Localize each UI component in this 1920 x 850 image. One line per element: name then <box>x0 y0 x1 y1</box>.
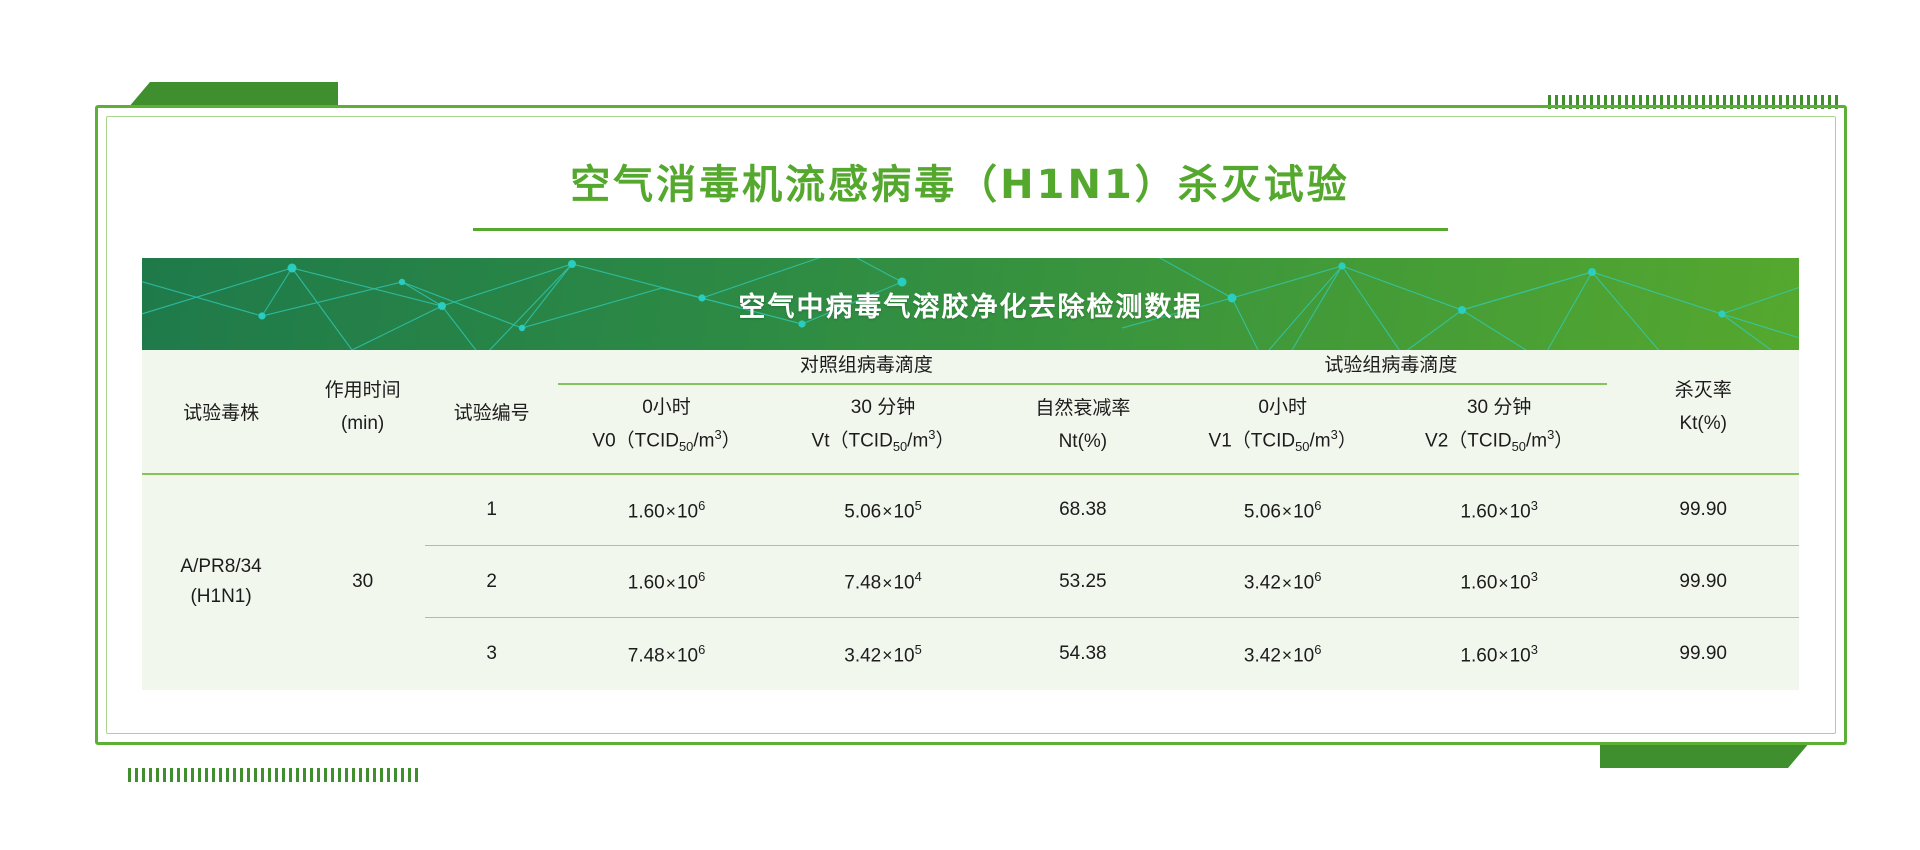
header-test-no: 试验编号 <box>425 350 558 474</box>
header-v1-unit: V1（TCID50/m3） <box>1178 424 1386 459</box>
header-kill-rate-line1: 杀灭率 <box>1611 374 1795 407</box>
cell-v2-exponent: 3 <box>1531 498 1538 513</box>
cell-test-no: 3 <box>425 618 558 690</box>
times-symbol: × <box>881 501 893 521</box>
header-group-control: 对照组病毒滴度 <box>558 350 1174 384</box>
subscript-50: 50 <box>679 439 693 454</box>
header-vt-unit: Vt（TCID50/m3） <box>779 424 987 459</box>
header-vt: 30 分钟 Vt（TCID50/m3） <box>775 384 991 474</box>
cell-v0: 7.48×106 <box>558 618 774 690</box>
cell-vt: 7.48×104 <box>775 546 991 618</box>
header-v0-symbol: V0 <box>592 431 615 452</box>
cell-v0-exponent: 6 <box>698 498 705 513</box>
cell-vt-mantissa: 5.06 <box>844 501 881 522</box>
section-banner: 空气中病毒气溶胶净化去除检测数据 <box>142 258 1799 350</box>
banner-title: 空气中病毒气溶胶净化去除检测数据 <box>142 258 1799 350</box>
cell-v1-exponent: 6 <box>1314 642 1321 657</box>
superscript-3: 3 <box>928 427 935 442</box>
times-symbol: × <box>881 573 893 593</box>
cell-v1-exponent: 6 <box>1314 569 1321 584</box>
cell-v0: 1.60×106 <box>558 546 774 618</box>
times-symbol: × <box>665 645 677 665</box>
cell-v2-exponent: 3 <box>1531 642 1538 657</box>
superscript-3: 3 <box>714 427 721 442</box>
header-v1-time: 0小时 <box>1178 391 1386 424</box>
header-v0: 0小时 V0（TCID50/m3） <box>558 384 774 474</box>
cell-v2: 1.60×103 <box>1391 546 1607 618</box>
cell-vt-mantissa: 3.42 <box>844 645 881 666</box>
cell-v2-exponent: 3 <box>1531 569 1538 584</box>
cell-nt: 54.38 <box>991 618 1174 690</box>
header-nt-unit: Nt(%) <box>995 425 1170 458</box>
table-row: A/PR8/34 (H1N1) 30 1 1.60×106 5.06×105 6… <box>142 474 1799 546</box>
header-nt-label: 自然衰减率 <box>995 392 1170 425</box>
cell-vt: 5.06×105 <box>775 474 991 546</box>
header-v0-time: 0小时 <box>562 391 770 424</box>
cell-vt-exponent: 5 <box>915 642 922 657</box>
header-v2-unit: V2（TCID50/m3） <box>1395 424 1603 459</box>
header-vt-time: 30 分钟 <box>779 391 987 424</box>
times-symbol: × <box>1497 645 1509 665</box>
cell-nt: 68.38 <box>991 474 1174 546</box>
cell-v1-mantissa: 3.42 <box>1244 645 1281 666</box>
title-underline-rule <box>473 228 1448 231</box>
header-contact-time-line2: (min) <box>304 407 421 440</box>
cell-v2-mantissa: 1.60 <box>1460 645 1497 666</box>
cell-v0-exponent: 6 <box>698 642 705 657</box>
times-symbol: × <box>665 501 677 521</box>
cell-kt: 99.90 <box>1607 618 1799 690</box>
cell-strain-line1: A/PR8/34 <box>180 556 261 577</box>
cell-test-no: 1 <box>425 474 558 546</box>
cell-v0-mantissa: 1.60 <box>628 573 665 594</box>
cell-vt-exponent: 4 <box>915 569 922 584</box>
cell-v1-exponent: 6 <box>1314 498 1321 513</box>
header-v2-symbol: V2 <box>1425 431 1448 452</box>
header-group-test: 试验组病毒滴度 <box>1174 350 1607 384</box>
cell-vt-mantissa: 7.48 <box>844 573 881 594</box>
cell-v0: 1.60×106 <box>558 474 774 546</box>
cell-v1: 3.42×106 <box>1174 546 1390 618</box>
cell-v2-mantissa: 1.60 <box>1460 501 1497 522</box>
cell-strain-line2: (H1N1) <box>190 586 251 607</box>
header-v0-unit: V0（TCID50/m3） <box>562 424 770 459</box>
cell-v2: 1.60×103 <box>1391 474 1607 546</box>
slide-canvas: 空气消毒机流感病毒（H1N1）杀灭试验 <box>0 0 1920 850</box>
table-body: A/PR8/34 (H1N1) 30 1 1.60×106 5.06×105 6… <box>142 474 1799 690</box>
header-v1-symbol: V1 <box>1209 431 1232 452</box>
cell-test-no: 2 <box>425 546 558 618</box>
cell-kt: 99.90 <box>1607 474 1799 546</box>
times-symbol: × <box>1497 501 1509 521</box>
superscript-3: 3 <box>1547 427 1554 442</box>
page-title: 空气消毒机流感病毒（H1N1）杀灭试验 <box>0 152 1920 210</box>
cell-v1-mantissa: 5.06 <box>1244 501 1281 522</box>
times-symbol: × <box>1281 645 1293 665</box>
cell-kt: 99.90 <box>1607 546 1799 618</box>
cell-vt-exponent: 5 <box>915 498 922 513</box>
header-kill-rate-line2: Kt(%) <box>1611 407 1795 440</box>
times-symbol: × <box>1281 501 1293 521</box>
header-kill-rate: 杀灭率 Kt(%) <box>1607 350 1799 474</box>
cell-nt: 53.25 <box>991 546 1174 618</box>
cell-v1: 5.06×106 <box>1174 474 1390 546</box>
times-symbol: × <box>665 573 677 593</box>
cell-v0-exponent: 6 <box>698 569 705 584</box>
corner-decoration-bottom-right <box>1600 742 1810 768</box>
times-symbol: × <box>1281 573 1293 593</box>
table-header: 试验毒株 作用时间 (min) 试验编号 对照组病毒滴度 试验组病毒滴度 杀灭率… <box>142 350 1799 474</box>
cell-v2: 1.60×103 <box>1391 618 1607 690</box>
header-v2: 30 分钟 V2（TCID50/m3） <box>1391 384 1607 474</box>
header-group-row: 试验毒株 作用时间 (min) 试验编号 对照组病毒滴度 试验组病毒滴度 杀灭率… <box>142 350 1799 384</box>
superscript-3: 3 <box>1331 427 1338 442</box>
cell-strain: A/PR8/34 (H1N1) <box>142 474 300 690</box>
cell-v1: 3.42×106 <box>1174 618 1390 690</box>
tick-strip-bottom-left <box>128 768 418 782</box>
kill-rate-data-table: 试验毒株 作用时间 (min) 试验编号 对照组病毒滴度 试验组病毒滴度 杀灭率… <box>142 350 1799 690</box>
times-symbol: × <box>881 645 893 665</box>
times-symbol: × <box>1497 573 1509 593</box>
subscript-50: 50 <box>1512 439 1526 454</box>
cell-v2-mantissa: 1.60 <box>1460 573 1497 594</box>
subscript-50: 50 <box>1295 439 1309 454</box>
cell-v1-mantissa: 3.42 <box>1244 573 1281 594</box>
cell-v0-mantissa: 1.60 <box>628 501 665 522</box>
header-v2-time: 30 分钟 <box>1395 391 1603 424</box>
cell-v0-mantissa: 7.48 <box>628 645 665 666</box>
header-nt: 自然衰减率 Nt(%) <box>991 384 1174 474</box>
header-contact-time: 作用时间 (min) <box>300 350 425 474</box>
header-vt-symbol: Vt <box>812 431 830 452</box>
header-strain: 试验毒株 <box>142 350 300 474</box>
subscript-50: 50 <box>893 439 907 454</box>
data-table-container: 试验毒株 作用时间 (min) 试验编号 对照组病毒滴度 试验组病毒滴度 杀灭率… <box>142 350 1799 690</box>
cell-vt: 3.42×105 <box>775 618 991 690</box>
cell-contact-time: 30 <box>300 474 425 690</box>
header-v1: 0小时 V1（TCID50/m3） <box>1174 384 1390 474</box>
header-contact-time-line1: 作用时间 <box>304 374 421 407</box>
